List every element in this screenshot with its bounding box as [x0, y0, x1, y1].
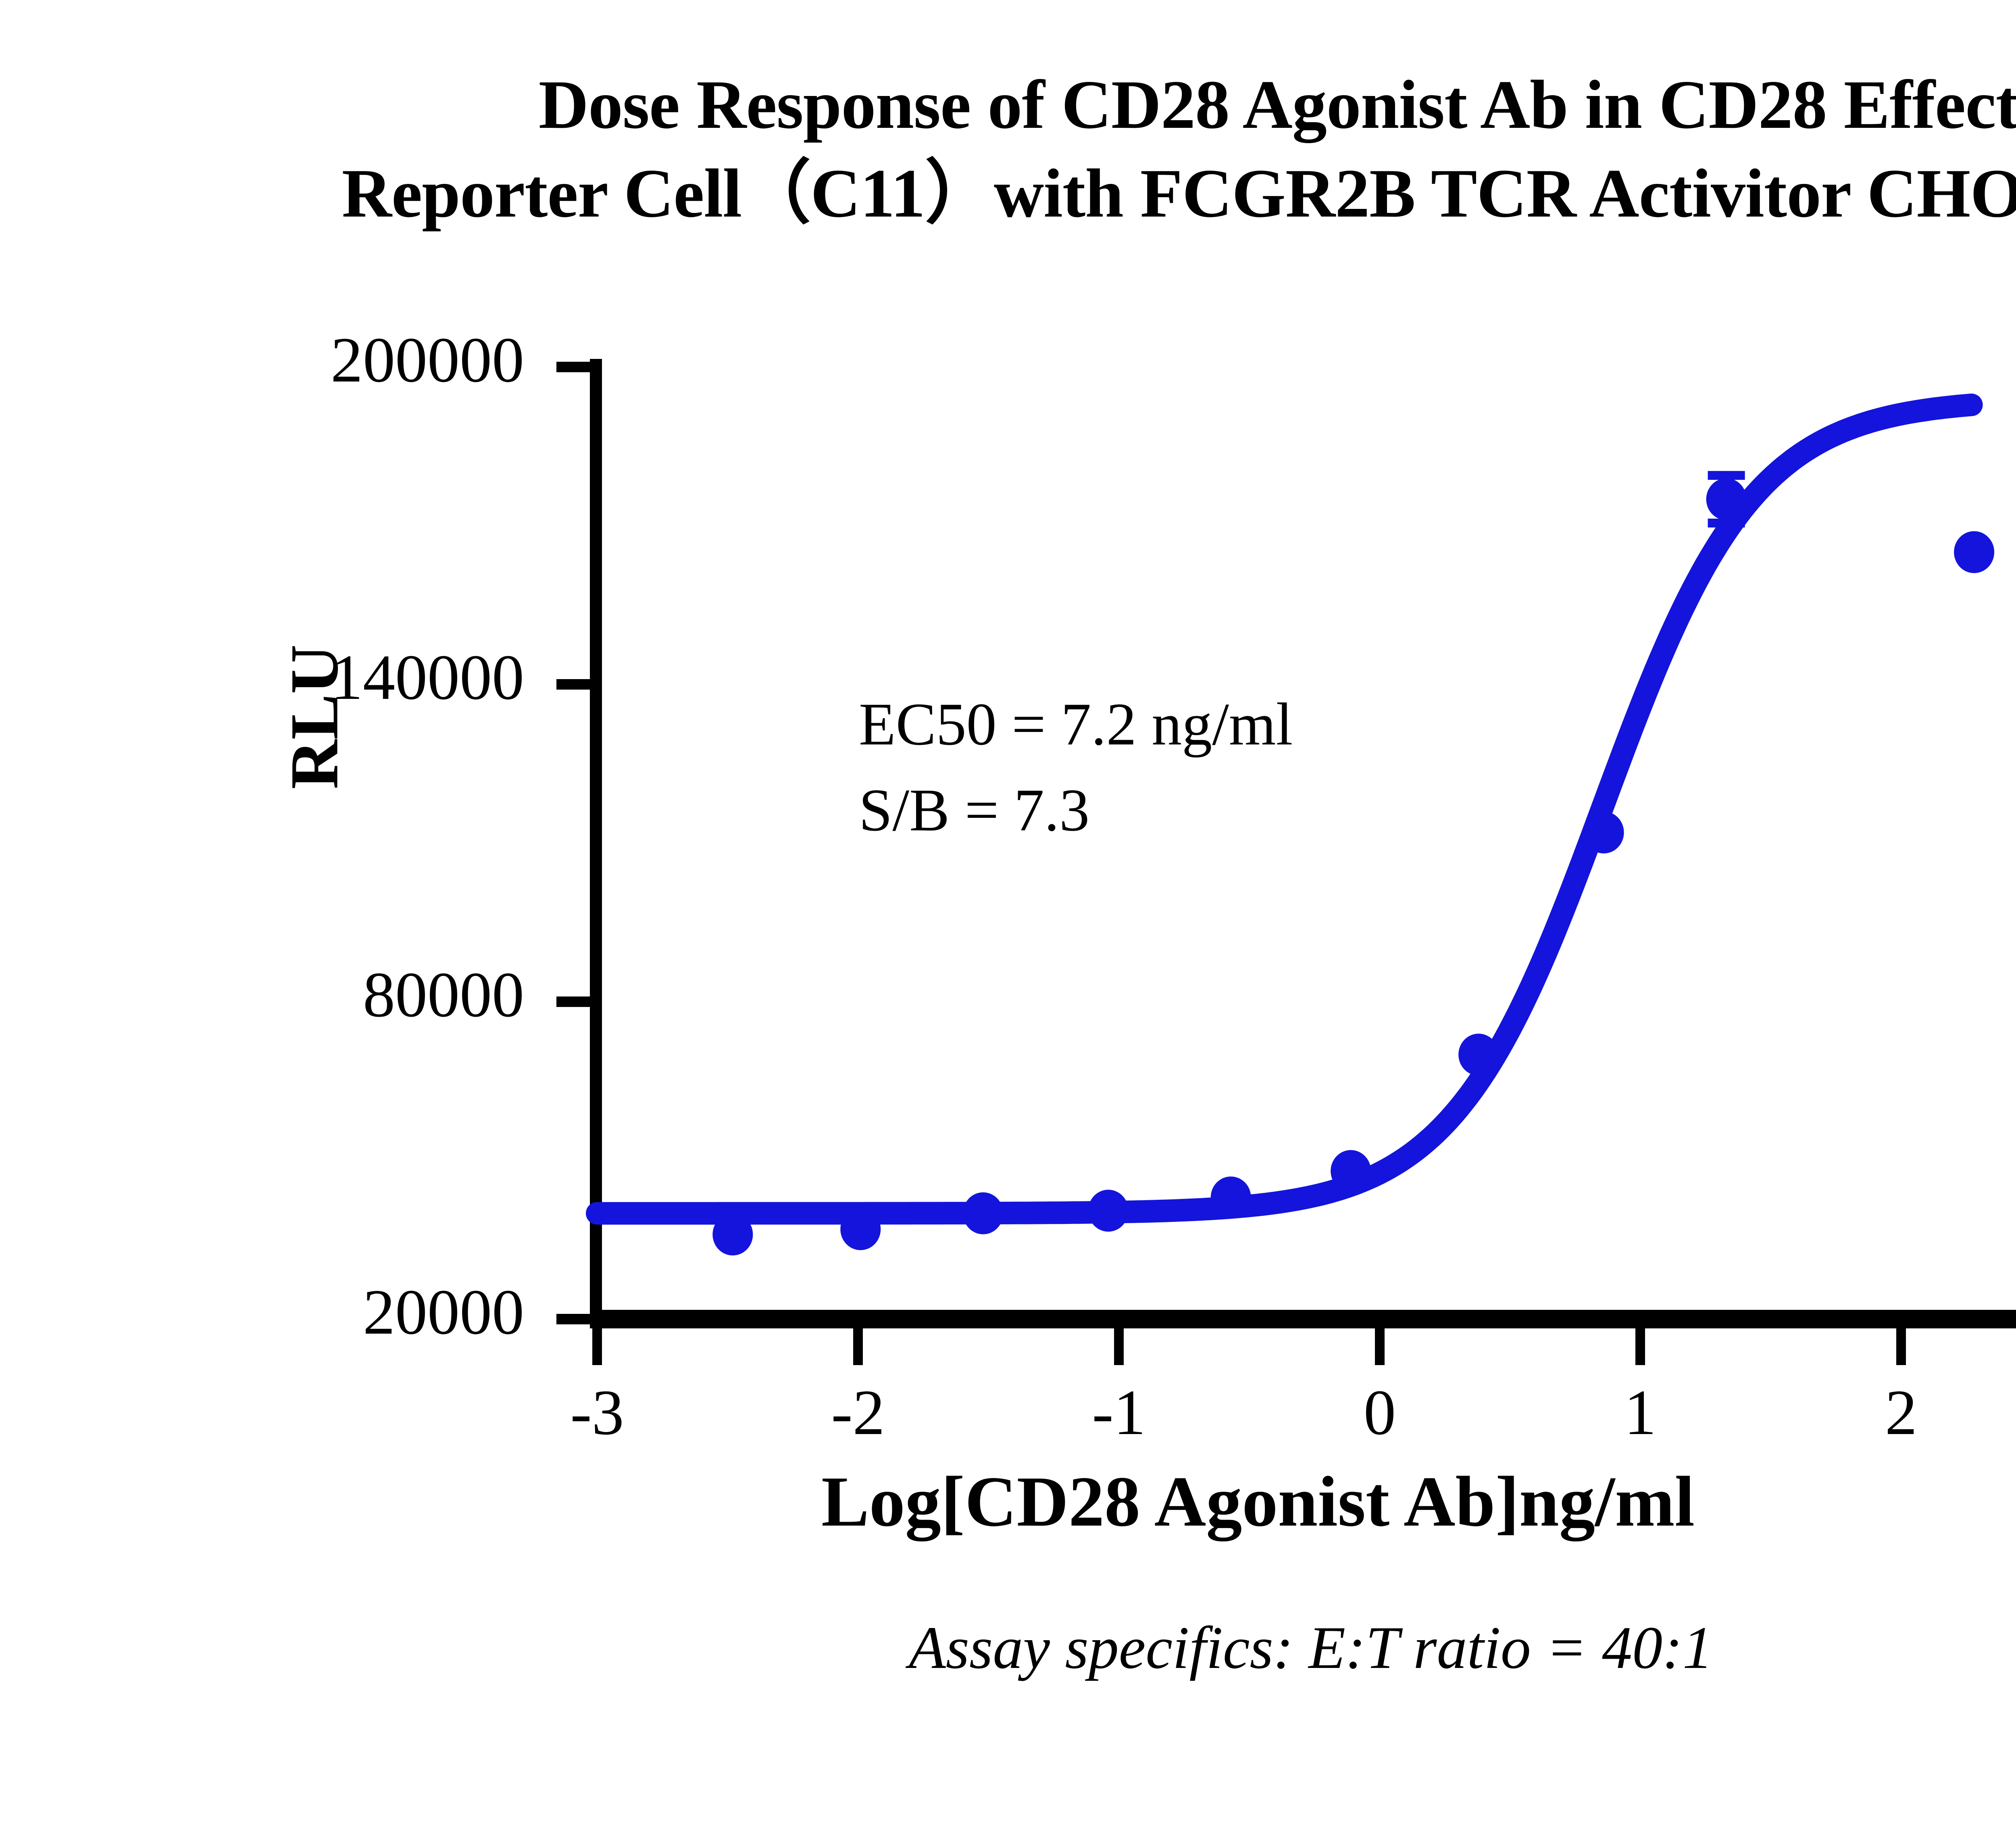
data-point-marker [840, 1208, 881, 1250]
y-tick-label-80000: 80000 [226, 957, 524, 1032]
x-tick-label-1: 1 [1588, 1375, 1693, 1450]
y-axis-title: RLU [275, 556, 354, 878]
data-point-marker [963, 1192, 1003, 1234]
data-point-marker [1458, 1034, 1499, 1076]
data-point-marker [1331, 1150, 1371, 1192]
x-tick-label-2: 2 [1849, 1375, 1954, 1450]
plot-area: RLU 200000 140000 80000 20000 -3 -2 -1 0… [0, 0, 2016, 1847]
x-axis-title: Log[CD28 Agonist Ab]ng/ml [452, 1460, 2016, 1543]
data-point-group [712, 475, 1994, 1255]
x-ticks-group [597, 1324, 1901, 1365]
x-tick-label--2: -2 [806, 1375, 910, 1450]
axes-group [590, 359, 2016, 1324]
data-point-marker [1088, 1190, 1129, 1232]
figure-caption: Assay specifics: E:T ratio = 40:1 [0, 1613, 2016, 1682]
y-tick-label-200000: 200000 [226, 323, 524, 397]
y-tick-label-20000: 20000 [226, 1275, 524, 1349]
sb-annotation: S/B = 7.3 [859, 767, 1293, 853]
data-point-marker [1584, 811, 1624, 853]
chart-figure: Dose Response of CD28 Agonist Ab in CD28… [0, 0, 2016, 1847]
data-point-marker [1954, 531, 1994, 573]
x-tick-label-0: 0 [1327, 1375, 1432, 1450]
ec50-annotation: EC50 = 7.2 ng/ml [859, 682, 1293, 767]
data-point-marker [1211, 1176, 1251, 1218]
plot-svg [0, 0, 2016, 1847]
x-tick-label--3: -3 [545, 1375, 650, 1450]
data-point-marker [1706, 478, 1747, 520]
data-point-marker [712, 1213, 753, 1255]
fit-statistics-annotation: EC50 = 7.2 ng/ml S/B = 7.3 [859, 682, 1293, 853]
x-tick-label--1: -1 [1066, 1375, 1171, 1450]
y-tick-label-140000: 140000 [226, 640, 524, 715]
